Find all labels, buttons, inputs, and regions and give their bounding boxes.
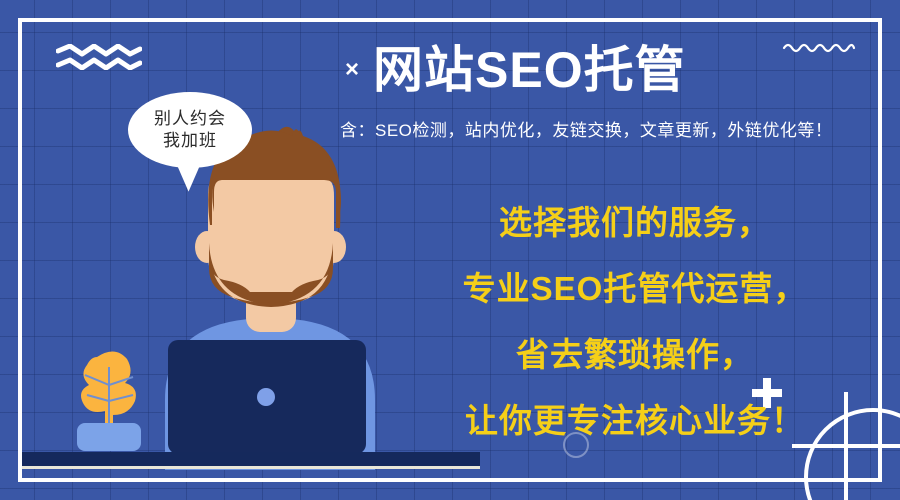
page-title: 网站SEO托管 [373,44,686,97]
slogan-line-4: 让你更专注核心业务！ [400,388,870,454]
subtitle-text: 含：SEO检测，站内优化，友链交换，文章更新，外链优化等！ [340,120,885,142]
slogan-line-2: 专业SEO托管代运营， [400,256,870,322]
x-mark-icon: × [345,58,359,82]
desk-edge [22,466,480,469]
slogan-line-3: 省去繁琐操作， [400,322,870,388]
slogan-block: 选择我们的服务， 专业SEO托管代运营， 省去繁琐操作， 让你更专注核心业务！ [400,190,870,454]
laptop-logo-icon [257,388,275,406]
seo-hosting-banner: 别人约会 我加班 × 网站SEO托管 含：SEO检测，站内优化，友链交换，文章更… [0,0,900,500]
desk-surface [22,452,480,466]
title-row: × 网站SEO托管 [345,44,885,97]
speech-bubble: 别人约会 我加班 [128,92,252,168]
speech-bubble-line-1: 别人约会 [154,108,226,130]
speech-bubble-line-2: 我加班 [163,130,217,152]
slogan-line-1: 选择我们的服务， [400,190,870,256]
laptop-icon [168,340,366,454]
potted-plant-icon [55,345,175,455]
